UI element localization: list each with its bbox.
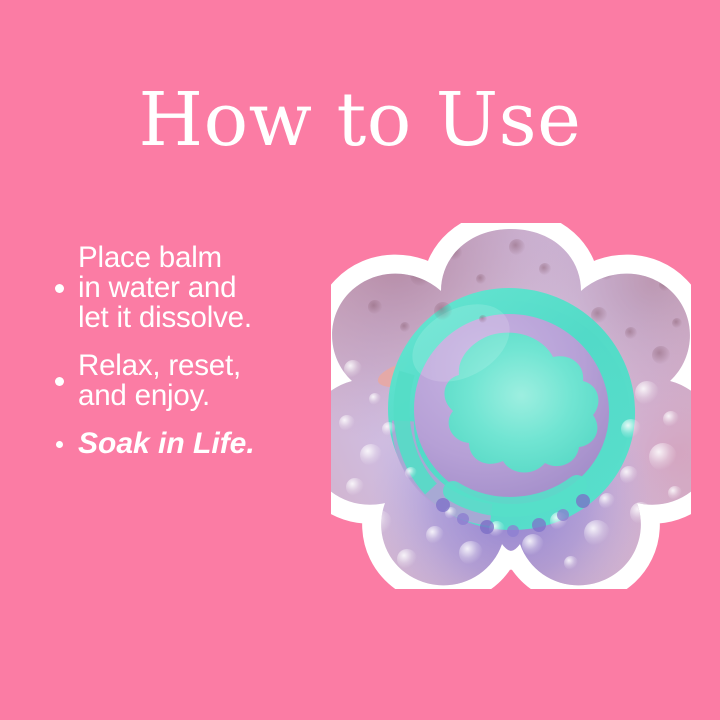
how-to-use-step-list: Place balm in water and let it dissolve.… (40, 243, 320, 459)
bullet-wrap (40, 284, 78, 293)
list-item: Relax, reset, and enjoy. (40, 351, 320, 411)
flower-framed-bath-bomb-photo (331, 223, 691, 589)
list-item-label: Soak in Life. (78, 429, 255, 459)
bullet-wrap (40, 441, 78, 448)
page-title: How to Use (0, 79, 720, 161)
dot-bullet-icon (56, 441, 63, 448)
poster-canvas: How to Use Place balm in water and let i… (0, 0, 720, 720)
bath-bomb (394, 289, 630, 527)
photo-content (331, 223, 691, 589)
dot-bullet-icon (55, 377, 64, 386)
dot-bullet-icon (55, 284, 64, 293)
bullet-wrap (40, 377, 78, 386)
list-item: Soak in Life. (40, 429, 320, 459)
list-item-label: Place balm in water and let it dissolve. (78, 243, 252, 333)
list-item-label: Relax, reset, and enjoy. (78, 351, 241, 411)
list-item: Place balm in water and let it dissolve. (40, 243, 320, 333)
